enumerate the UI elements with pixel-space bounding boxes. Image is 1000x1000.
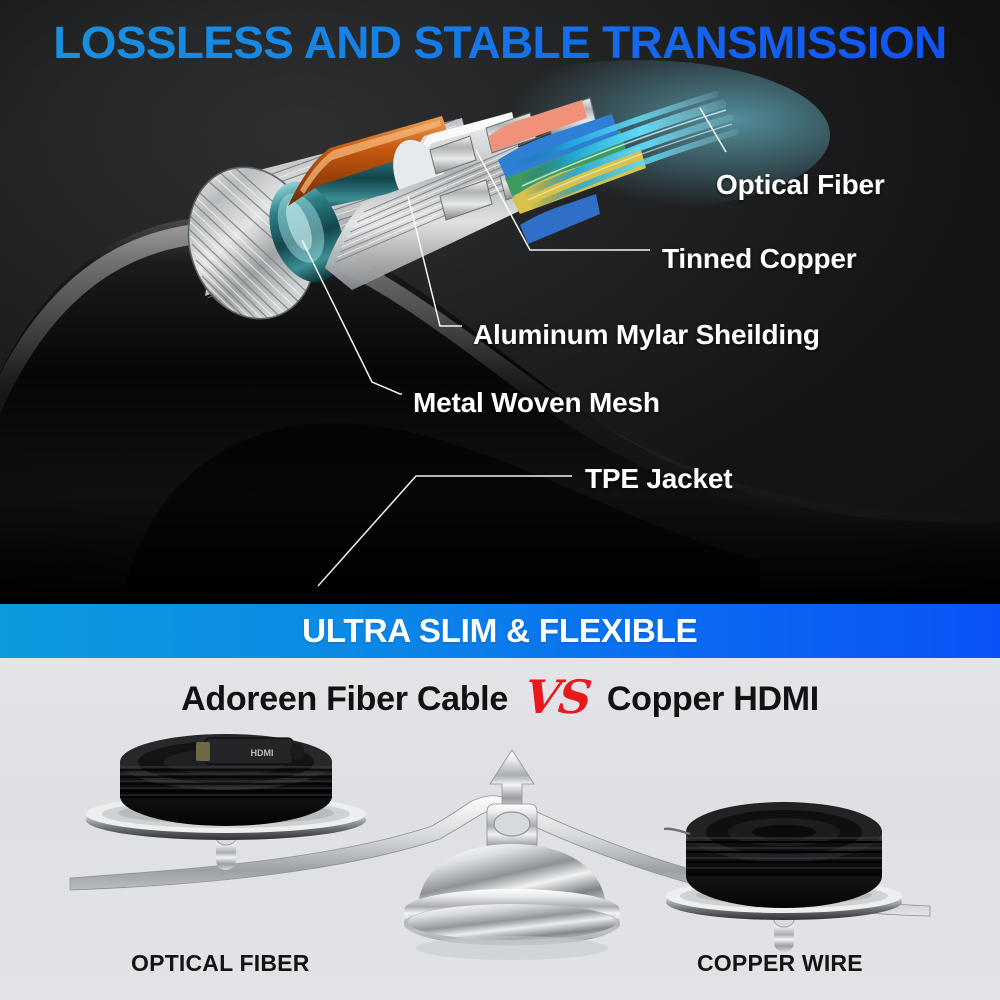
coiled-fiber-cable: HDMI	[120, 734, 332, 826]
hdmi-connector: HDMI	[196, 738, 304, 764]
callout-label-aluminum-mylar: Aluminum Mylar Sheilding	[473, 319, 820, 351]
page-title: LOSSLESS AND STABLE TRANSMISSION	[0, 17, 1000, 69]
cable-cutaway-illustration	[0, 0, 1000, 604]
comparison-section: Adoreen Fiber Cable VS Copper HDMI	[0, 658, 1000, 1000]
callout-label-tpe-jacket: TPE Jacket	[585, 463, 732, 495]
foot-label-optical-fiber: OPTICAL FIBER	[131, 950, 310, 977]
cable-construction-section: LOSSLESS AND STABLE TRANSMISSION Optical…	[0, 0, 1000, 604]
callout-label-tinned-copper: Tinned Copper	[662, 243, 856, 275]
foot-label-copper-wire: COPPER WIRE	[697, 950, 863, 977]
section-banner: ULTRA SLIM & FLEXIBLE	[0, 604, 1000, 658]
callout-label-metal-mesh: Metal Woven Mesh	[413, 387, 660, 419]
scale-base	[404, 844, 620, 960]
callout-label-optical-fiber: Optical Fiber	[716, 169, 885, 201]
banner-title: ULTRA SLIM & FLEXIBLE	[302, 612, 697, 650]
hdmi-connector-text: HDMI	[251, 748, 274, 758]
